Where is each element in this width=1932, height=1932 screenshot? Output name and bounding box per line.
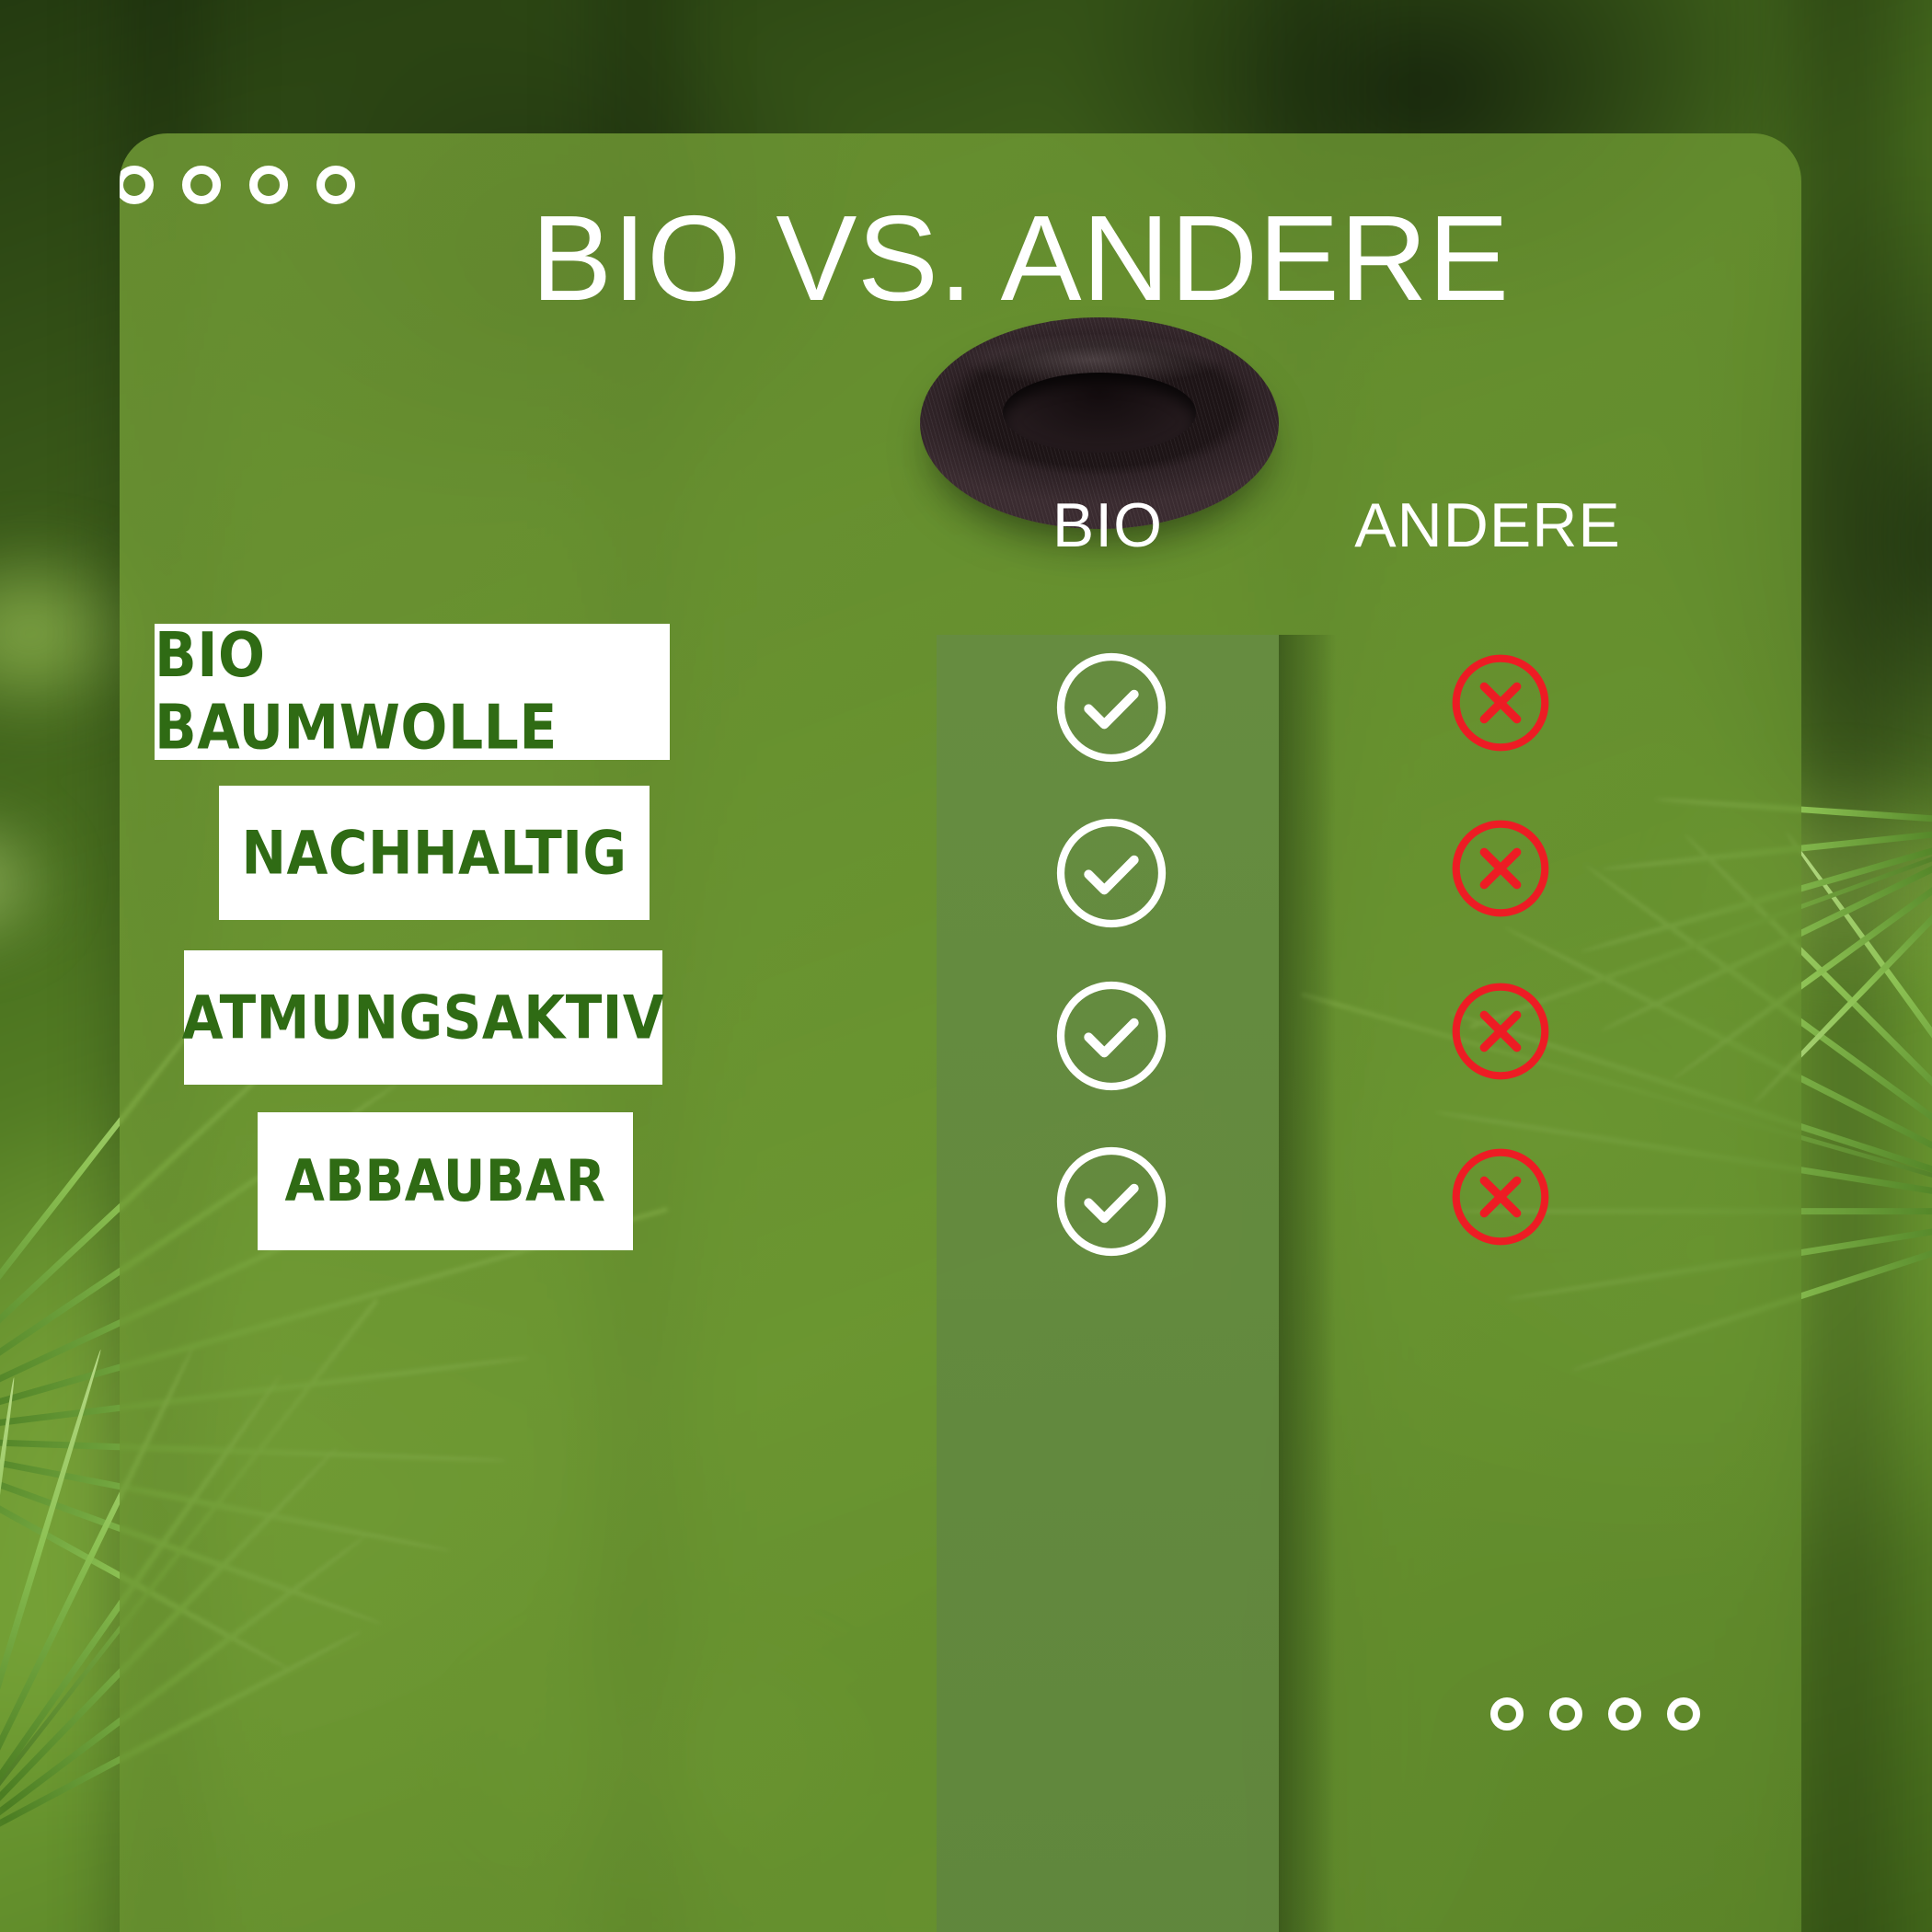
- feature-label-text: ATMUNGSAKTIV: [182, 983, 665, 1052]
- feature-label-box: NACHHALTIG: [219, 786, 650, 920]
- feature-label-text: BIO BAUMWOLLE: [155, 620, 670, 765]
- cross-circle-icon: [1444, 647, 1557, 759]
- feature-label-box: ABBAUBAR: [258, 1112, 633, 1250]
- feature-label-text: ABBAUBAR: [285, 1148, 606, 1215]
- check-circle-icon: [1051, 647, 1172, 768]
- check-circle-icon: [1051, 812, 1172, 934]
- window-dots-bottom: [1490, 1697, 1700, 1731]
- column-header-other: ANDERE: [1290, 494, 1685, 557]
- window-dot-icon[interactable]: [1549, 1697, 1582, 1731]
- window-dot-icon[interactable]: [1608, 1697, 1641, 1731]
- feature-label-text: NACHHALTIG: [241, 818, 627, 888]
- hair-tie-hole: [1003, 373, 1197, 453]
- page-title: BIO VS. ANDERE: [120, 198, 1801, 319]
- window-dot-icon[interactable]: [1667, 1697, 1700, 1731]
- feature-label-box: ATMUNGSAKTIV: [184, 950, 662, 1085]
- cross-circle-icon: [1444, 975, 1557, 1087]
- column-header-bio: BIO: [937, 494, 1279, 557]
- cross-circle-icon: [1444, 812, 1557, 925]
- comparison-card: BIO VS. ANDERE BIO ANDERE BIO BAUMWOLLE …: [120, 133, 1801, 1932]
- check-circle-icon: [1051, 975, 1172, 1097]
- feature-label-box: BIO BAUMWOLLE: [155, 624, 670, 760]
- poster-canvas: BIO VS. ANDERE BIO ANDERE BIO BAUMWOLLE …: [0, 0, 1932, 1932]
- cross-circle-icon: [1444, 1141, 1557, 1253]
- product-pedestal-shadow: [1279, 635, 1336, 1932]
- check-circle-icon: [1051, 1141, 1172, 1262]
- window-dot-icon[interactable]: [1490, 1697, 1524, 1731]
